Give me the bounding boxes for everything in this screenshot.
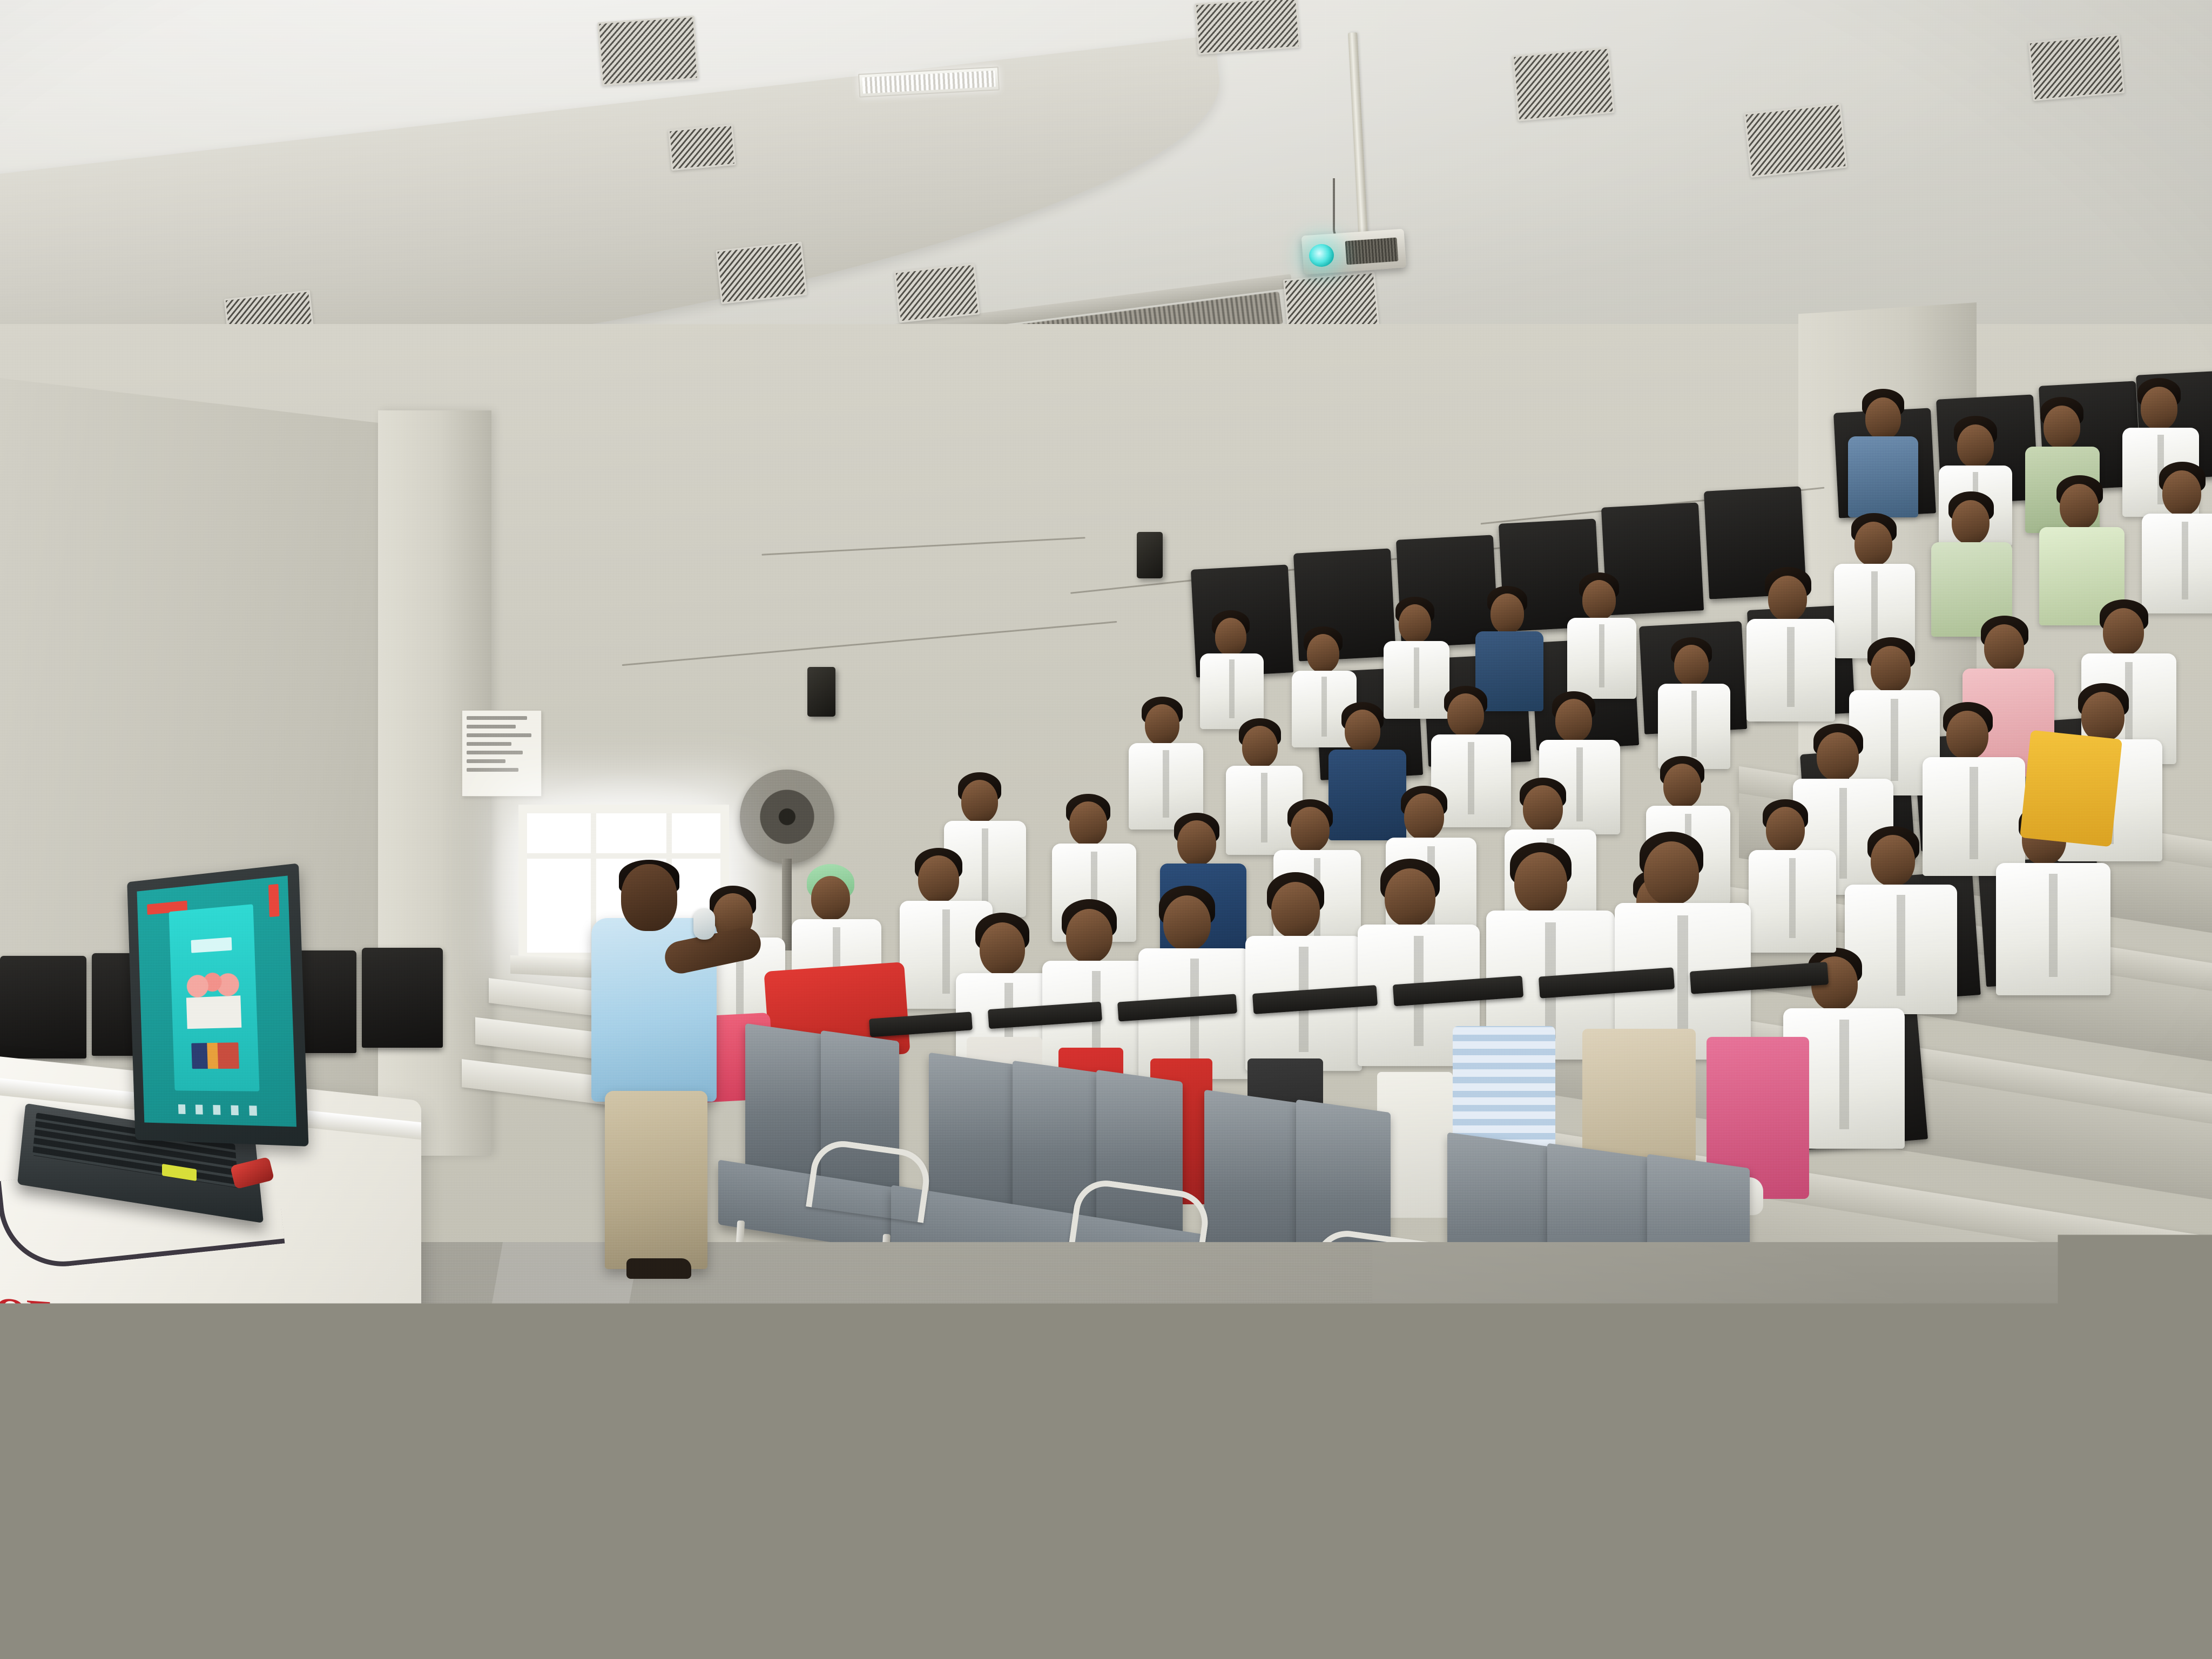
camera-lens-aperture-icon [1712,1199,1721,1207]
presenter-trousers [605,1091,707,1269]
ceiling-vent [2028,34,2125,101]
camera-lens-highlight-icon [1724,1197,1729,1202]
wall-speaker-icon [807,667,835,717]
pedestal-fan [740,770,834,864]
projector-vent-grill [1345,238,1399,265]
timestamp-label: 28/05/24 03:47 PM GMT +05:30 [474,1511,1998,1549]
viewfinder-bracket-icon [1689,1228,1705,1244]
location-address-label: Unnamed Road, Gulbarga University, Jnana… [474,1344,1998,1382]
ceiling-vent [668,124,736,171]
media-controls[interactable] [178,1104,258,1116]
map-pin-icon [187,1469,244,1548]
auditorium-seat [1601,502,1704,615]
slide-title-bar [191,938,232,953]
gps-info-panel: Kalaburagi, Karnataka, India Unnamed Roa… [446,1260,2167,1623]
latitude-label: Lat 17.321072° [474,1400,1998,1438]
wall-speaker-icon [1137,532,1163,578]
slide-accent-bar [268,884,279,917]
ceiling-vent [1744,103,1847,178]
gps-map-camera-branding-bar: GPS Map Camera [1671,1168,2167,1261]
viewfinder-bracket-icon [1732,1185,1749,1201]
ceiling-vent [1195,0,1300,55]
laptop-screen-lid[interactable] [127,863,308,1147]
audience-yellow-scarf [2020,730,2122,847]
location-city-label: Kalaburagi, Karnataka, India [474,1282,1998,1332]
laptop-display[interactable] [137,875,296,1127]
fan-pole [782,859,792,950]
slide-illustration [185,961,241,1029]
map-thumbnail[interactable]: Google [24,1259,407,1659]
longitude-label: Long 76.872445° [474,1455,1998,1494]
wall-notice-paper [462,710,542,797]
app-name-label: GPS Map Camera [1770,1185,2164,1244]
audience-garment-beige [1582,1029,1696,1164]
viewfinder-bracket-icon [1732,1228,1749,1244]
ceiling-vent [1512,47,1615,121]
screenshot-root: OE [0,0,2212,1659]
viewfinder-bracket-icon [1689,1185,1705,1201]
google-watermark: Google [50,1593,190,1645]
presentation-slide [168,904,259,1091]
stage-chair [362,948,443,1048]
slide-books-graphic [191,1043,240,1069]
presenter-head [621,864,677,931]
stage-chair [0,956,86,1058]
ceiling-vent [716,241,807,304]
ceiling-vent [894,263,980,322]
microphone-icon [693,908,715,940]
gps-map-camera-icon [1684,1180,1754,1249]
ceiling-vent [597,16,699,86]
